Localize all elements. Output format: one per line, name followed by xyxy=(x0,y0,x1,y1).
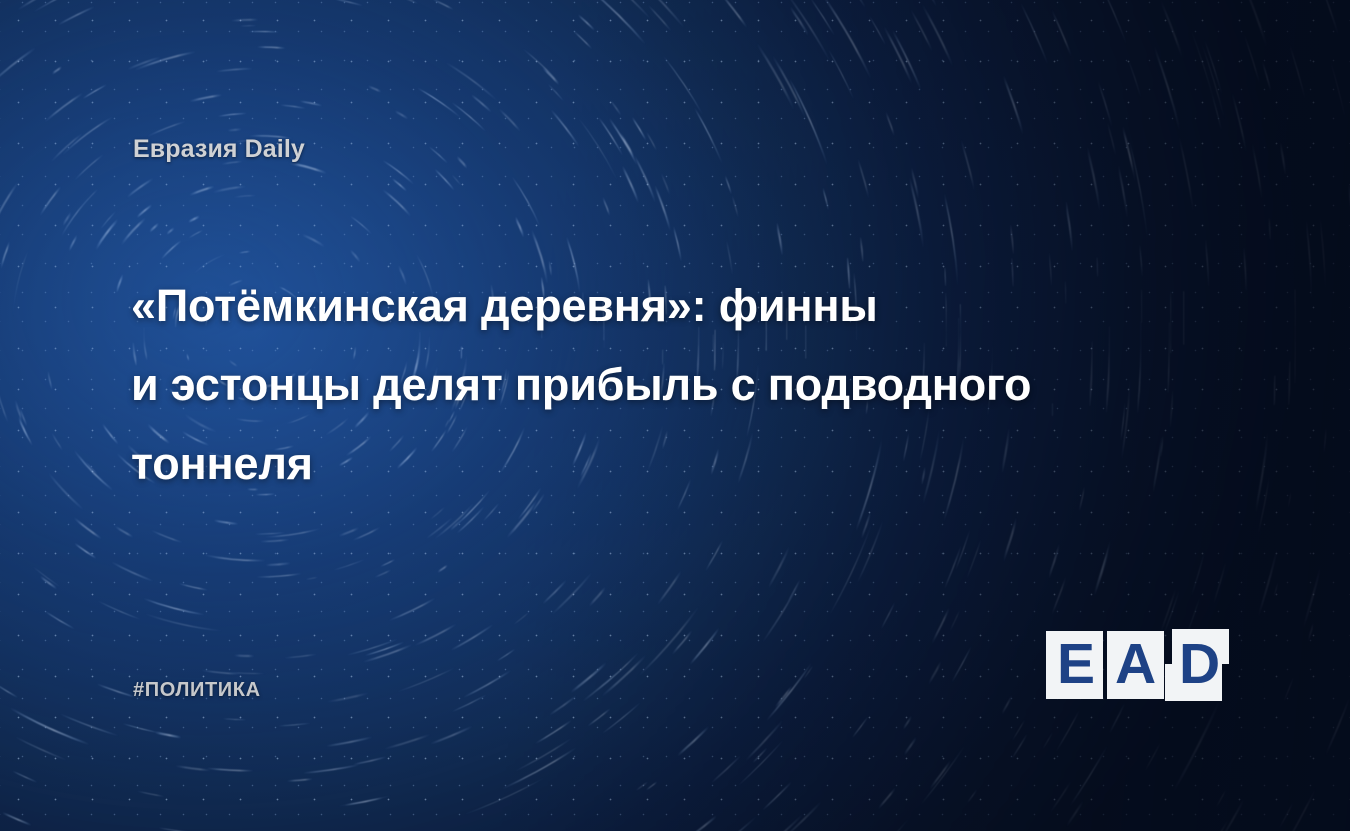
page-title: «Потёмкинская деревня»: финны и эстонцы … xyxy=(131,266,1221,503)
logo-letter-d-bottom: D xyxy=(1179,664,1220,693)
logo-letter-d-top: D xyxy=(1179,636,1220,664)
category-tag[interactable]: #ПОЛИТИКА xyxy=(133,679,261,702)
eadaily-logo[interactable]: E A D D xyxy=(1046,631,1222,699)
logo-tile-a: A xyxy=(1107,631,1164,699)
logo-tile-d-bottom: D xyxy=(1165,664,1222,701)
logo-letter-a: A xyxy=(1115,636,1156,693)
card-content: Евразия Daily «Потёмкинская деревня»: фи… xyxy=(0,0,1350,831)
share-card: Евразия Daily «Потёмкинская деревня»: фи… xyxy=(0,0,1350,831)
logo-tile-d-top: D xyxy=(1172,629,1229,664)
headline-line-1: «Потёмкинская деревня»: финны xyxy=(131,266,1221,345)
logo-letter-e: E xyxy=(1057,636,1095,693)
brand-title: Евразия Daily xyxy=(133,135,305,164)
logo-tile-e: E xyxy=(1046,631,1103,699)
headline-line-2: и эстонцы делят прибыль с подводного xyxy=(131,345,1221,424)
headline-line-3: тоннеля xyxy=(131,424,1221,503)
